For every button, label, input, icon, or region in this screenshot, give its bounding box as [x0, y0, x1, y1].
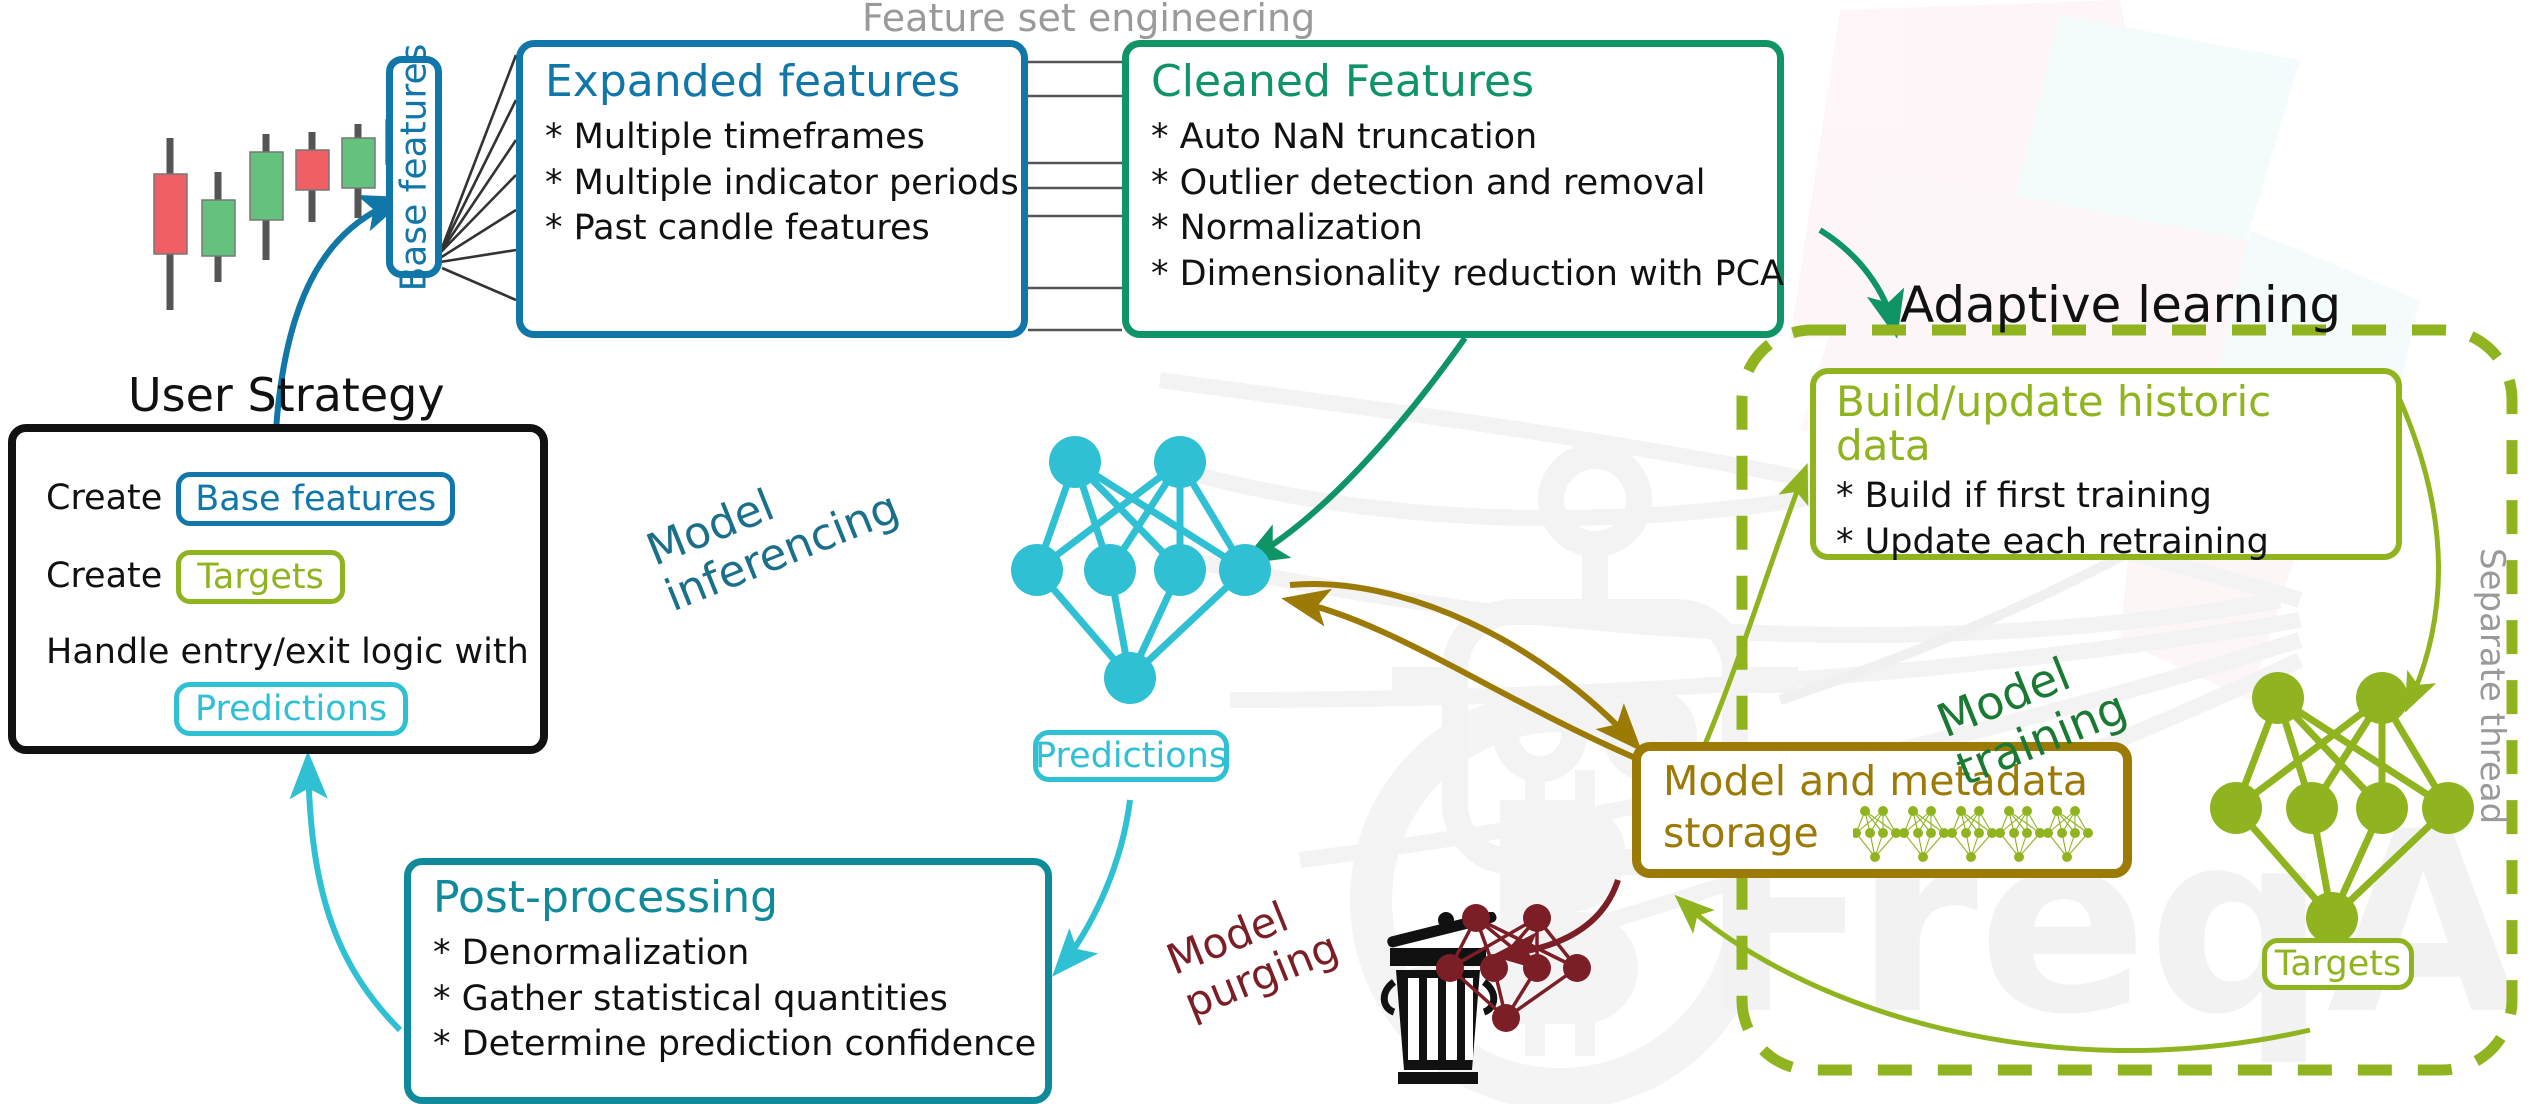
user-strategy-create-label-2: Create [46, 554, 162, 600]
inference-neural-net [1000, 420, 1300, 740]
post-processing-item: * Denormalization [433, 931, 1023, 977]
user-strategy-title: User Strategy [128, 368, 445, 422]
user-strategy-entry-exit-label: Handle entry/exit logic with [46, 632, 529, 672]
model-purging-label: Model purging [1160, 880, 1345, 1028]
candle-2 [202, 172, 235, 282]
base-features-badge-label: Base features [394, 43, 435, 291]
connector-expanded-to-cleaned [1028, 62, 1122, 330]
cleaned-features-item: * Outlier detection and removal [1151, 161, 1755, 207]
model-storage-line2: storage [1663, 809, 1819, 857]
candlestick-chart [140, 110, 400, 330]
post-processing-item: * Gather statistical quantities [433, 977, 1023, 1023]
arrow-storage-to-inference-down [1290, 584, 1636, 745]
expanded-features-item: * Past candle features [545, 206, 999, 252]
candle-3 [250, 134, 283, 260]
predictions-badge-label: Predictions [1035, 736, 1227, 776]
targets-badge: Targets [2262, 938, 2414, 990]
expanded-features-box: Expanded features * Multiple timeframes … [516, 40, 1028, 338]
training-neural-net [2200, 660, 2500, 970]
expanded-features-item: * Multiple timeframes [545, 115, 999, 161]
candle-4 [296, 132, 329, 222]
predictions-badge: Predictions [1033, 730, 1229, 782]
post-processing-box: Post-processing * Denormalization * Gath… [404, 858, 1052, 1104]
post-processing-item: * Determine prediction confidence [433, 1022, 1023, 1068]
cleaned-features-item: * Normalization [1151, 206, 1755, 252]
cleaned-features-box: Cleaned Features * Auto NaN truncation *… [1122, 40, 1784, 338]
user-strategy-box: Create Base features Create Targets Hand… [8, 424, 548, 754]
expanded-features-item: * Multiple indicator periods [545, 161, 999, 207]
candle-1 [154, 138, 187, 310]
cleaned-features-title: Cleaned Features [1151, 59, 1755, 105]
adaptive-learning-title: Adaptive learning [1900, 276, 2341, 334]
arrow-predictions-to-postprocessing [1058, 800, 1130, 970]
build-update-item: * Update each retraining [1836, 520, 2376, 566]
fan-base-to-expanded [440, 55, 516, 300]
base-features-pill: Base features [176, 472, 455, 526]
cleaned-features-item: * Dimensionality reduction with PCA [1151, 252, 1755, 298]
model-storage-box: Model and metadata storage [1632, 742, 2132, 878]
feature-set-engineering-label: Feature set engineering [862, 0, 1315, 40]
predictions-pill: Predictions [174, 682, 408, 736]
user-strategy-create-label-1: Create [46, 476, 162, 522]
stored-models-stack-icon [1853, 803, 2115, 869]
diagram-canvas: FreqAI [0, 0, 2539, 1104]
cleaned-features-item: * Auto NaN truncation [1151, 115, 1755, 161]
build-update-title: Build/update historic data [1836, 380, 2376, 468]
targets-pill: Targets [176, 550, 345, 604]
post-processing-title: Post-processing [433, 875, 1023, 921]
build-update-item: * Build if first training [1836, 474, 2376, 520]
purged-neural-net [1432, 890, 1612, 1040]
candle-5 [342, 124, 375, 218]
arrow-cleaned-to-adaptive [1820, 230, 1895, 330]
arrow-storage-to-inference [1290, 600, 1640, 760]
model-inferencing-label: Model inferencing [640, 437, 906, 621]
build-update-box: Build/update historic data * Build if fi… [1810, 368, 2402, 560]
base-features-badge: Base features [386, 56, 442, 278]
expanded-features-title: Expanded features [545, 59, 999, 105]
arrow-postprocessing-to-strategy [308, 760, 400, 1030]
targets-badge-label: Targets [2275, 944, 2402, 984]
